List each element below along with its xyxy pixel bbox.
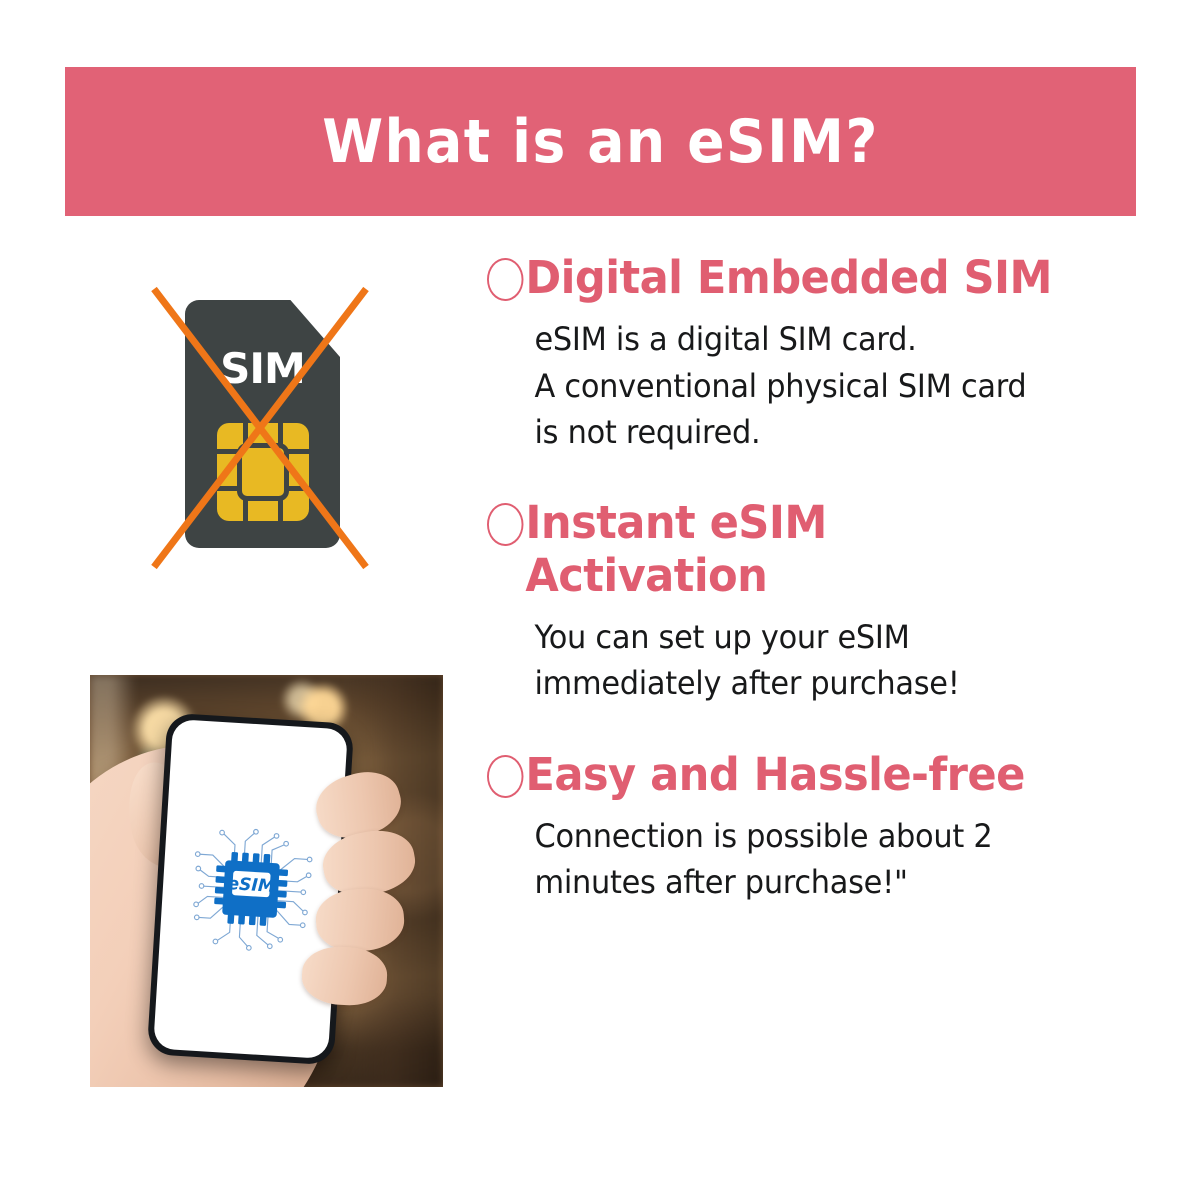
phone-in-hand-photo: eSIM xyxy=(90,675,443,1087)
cross-out-icon xyxy=(150,283,370,573)
page-title: What is an eSIM? xyxy=(322,112,879,172)
feature-item-3: Easy and Hassle-free Connection is possi… xyxy=(487,749,1167,906)
circle-marker-icon xyxy=(487,755,523,798)
feature-body-1-line1: eSIM is a digital SIM card. xyxy=(535,316,1134,362)
feature-heading-3-line1: Easy and Hassle-free xyxy=(525,748,1024,801)
feature-heading-3: Easy and Hassle-free xyxy=(487,749,1140,801)
feature-body-1: eSIM is a digital SIM card. A convention… xyxy=(487,316,1133,455)
smartphone: eSIM xyxy=(147,713,355,1066)
feature-heading-1-line1: Digital Embedded SIM xyxy=(525,251,1052,304)
circle-marker-icon xyxy=(487,258,523,301)
feature-item-1: Digital Embedded SIM eSIM is a digital S… xyxy=(487,252,1167,455)
feature-heading-2-line2: Activation xyxy=(525,550,826,602)
circle-marker-icon xyxy=(487,503,523,546)
feature-body-1-line3: is not required. xyxy=(535,409,1134,455)
feature-heading-2-line1: Instant eSIM xyxy=(525,496,826,549)
esim-chip-icon: eSIM xyxy=(175,813,327,965)
phone-screen: eSIM xyxy=(153,719,348,1059)
feature-body-3-line2: minutes after purchase!" xyxy=(535,859,1134,905)
feature-list: Digital Embedded SIM eSIM is a digital S… xyxy=(487,252,1167,905)
feature-item-2: Instant eSIM Activation You can set up y… xyxy=(487,497,1167,706)
header-banner: What is an eSIM? xyxy=(65,67,1136,216)
feature-body-2-line2: immediately after purchase! xyxy=(535,660,1134,706)
feature-body-2-line1: You can set up your eSIM xyxy=(535,614,1134,660)
physical-sim-figure: SIM xyxy=(150,283,370,573)
feature-body-1-line2: A conventional physical SIM card xyxy=(535,363,1134,409)
feature-heading-1: Digital Embedded SIM xyxy=(487,252,1140,304)
feature-heading-2: Instant eSIM Activation xyxy=(487,497,1140,601)
feature-body-3-line1: Connection is possible about 2 xyxy=(535,813,1134,859)
esim-chip-label: eSIM xyxy=(226,874,275,897)
feature-body-3: Connection is possible about 2 minutes a… xyxy=(487,813,1133,906)
feature-body-2: You can set up your eSIM immediately aft… xyxy=(487,614,1133,707)
